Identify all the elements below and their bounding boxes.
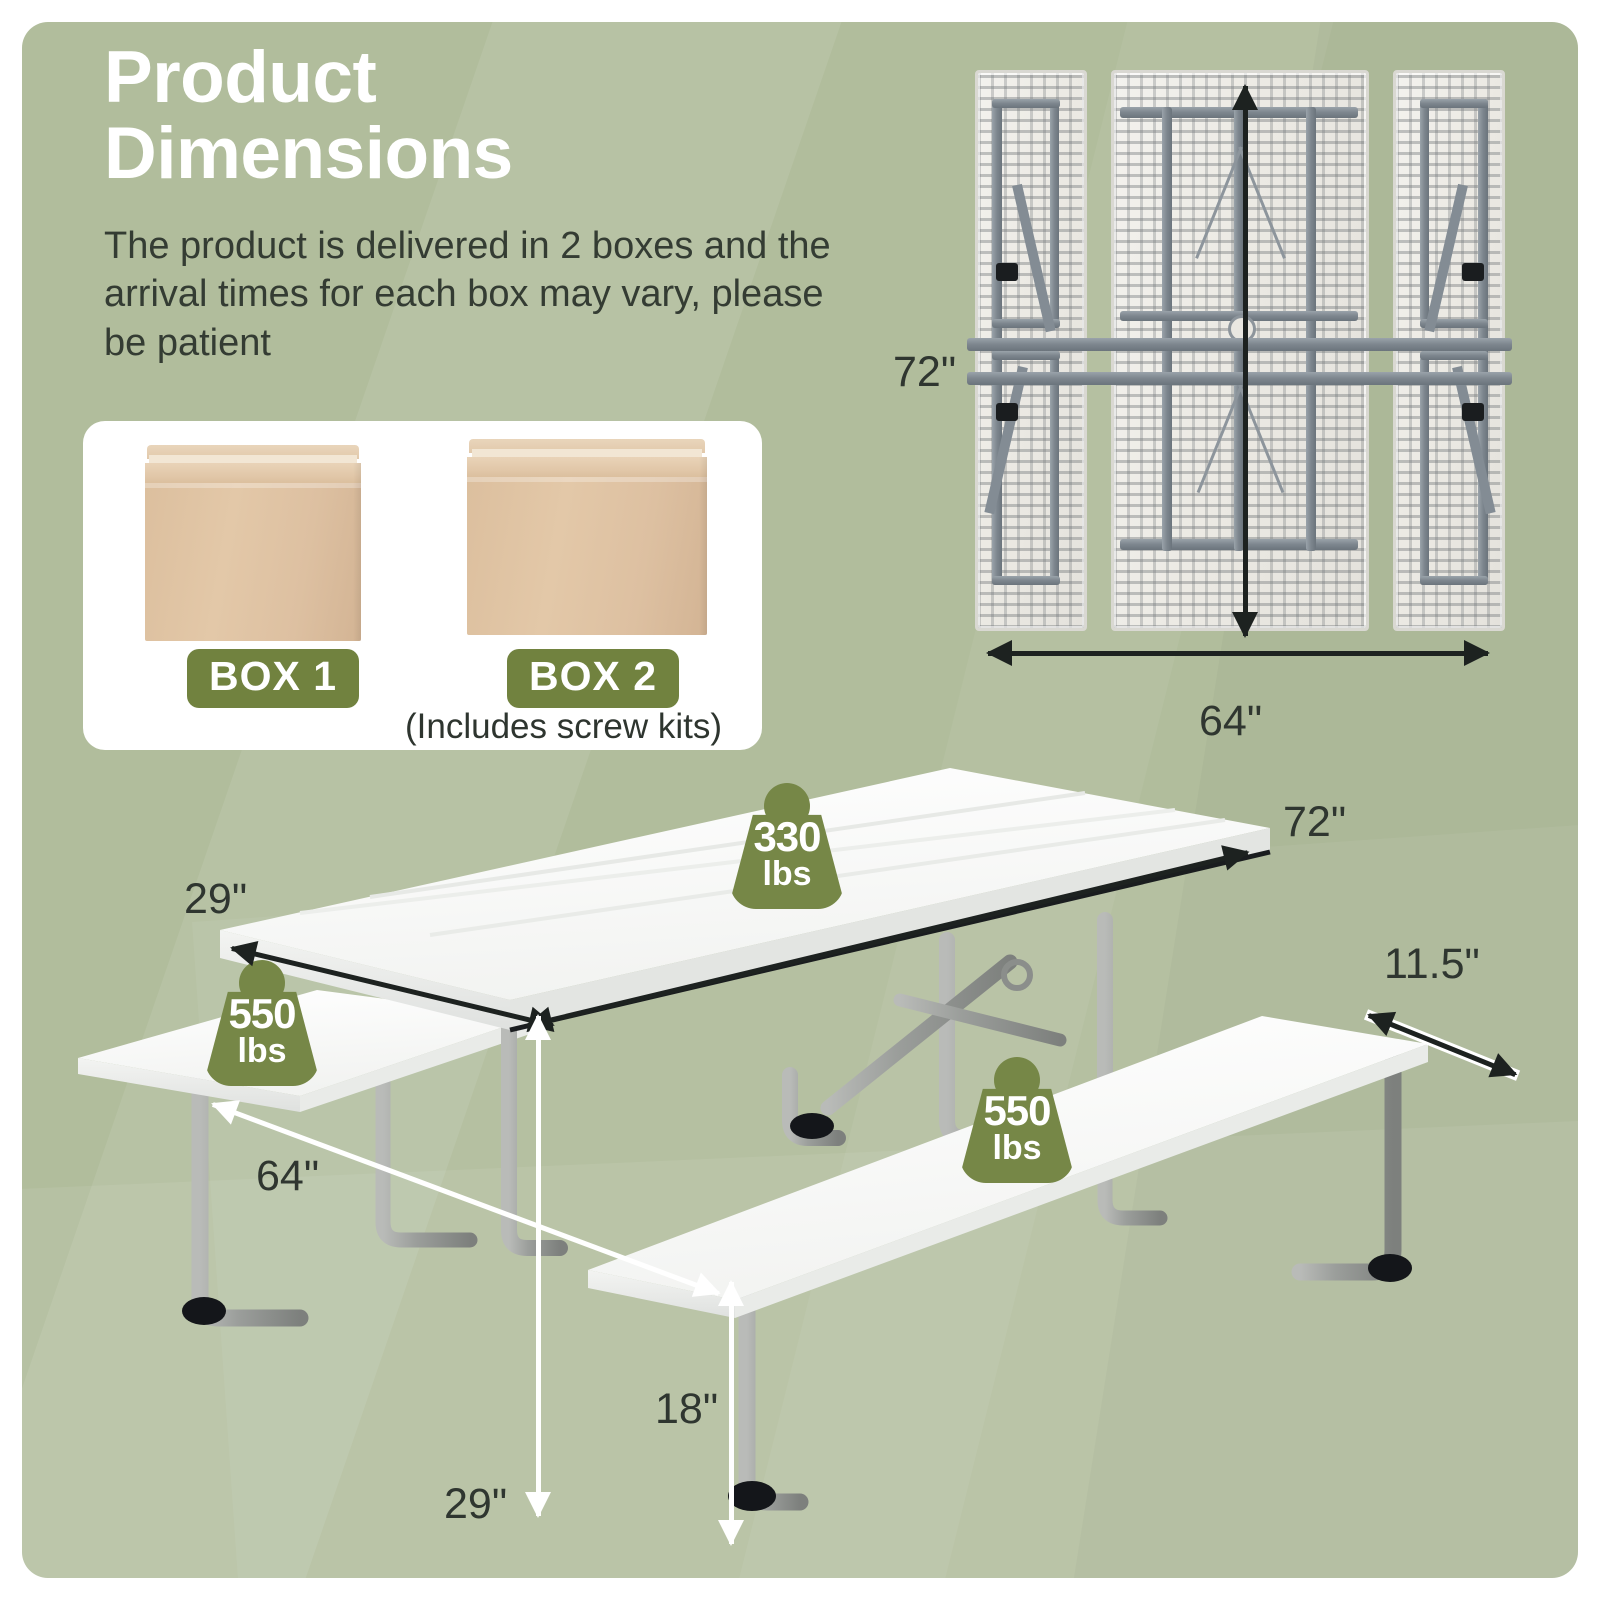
overall-width-label: 64": [256, 1152, 319, 1201]
table-capacity-badge: 330 lbs: [728, 783, 846, 911]
bench-width-label: 11.5": [1384, 940, 1480, 989]
arrow-head: [718, 1520, 744, 1546]
weight-number: 330: [728, 817, 846, 858]
table-depth-label: 29": [184, 875, 247, 924]
bench-right-capacity-badge: 550 lbs: [958, 1057, 1076, 1185]
arrow-head: [525, 1492, 551, 1518]
weight-text: 330 lbs: [728, 817, 846, 891]
assembled-table-illustration: 330 lbs 550 lbs 550 lbs: [0, 0, 1600, 1600]
weight-unit: lbs: [958, 1132, 1076, 1165]
weight-text: 550 lbs: [958, 1091, 1076, 1165]
bench-right-leg-front: [747, 1300, 800, 1502]
table-length-label: 72": [1283, 798, 1346, 847]
arrow-head: [718, 1280, 744, 1306]
weight-unit: lbs: [203, 1035, 321, 1068]
product-dimensions-infographic: Product Dimensions The product is delive…: [0, 0, 1600, 1600]
bench-left-capacity-badge: 550 lbs: [203, 960, 321, 1088]
weight-number: 550: [203, 994, 321, 1035]
arrow-head: [227, 935, 258, 966]
arrow-table-height: [525, 1016, 551, 1516]
bench-height-label: 18": [655, 1385, 718, 1434]
arrow-bench-height: [718, 1282, 744, 1544]
foot-cap-icon: [182, 1297, 226, 1325]
weight-text: 550 lbs: [203, 994, 321, 1068]
arrow-shaft: [536, 1016, 541, 1516]
fold-lock-icon: [1004, 962, 1030, 988]
weight-number: 550: [958, 1091, 1076, 1132]
foot-cap-icon: [790, 1113, 834, 1139]
arrow-head: [525, 1014, 551, 1040]
arrow-shaft: [729, 1282, 734, 1544]
table-height-label: 29": [444, 1480, 507, 1529]
foot-cap-icon: [1368, 1254, 1412, 1282]
weight-unit: lbs: [728, 858, 846, 891]
